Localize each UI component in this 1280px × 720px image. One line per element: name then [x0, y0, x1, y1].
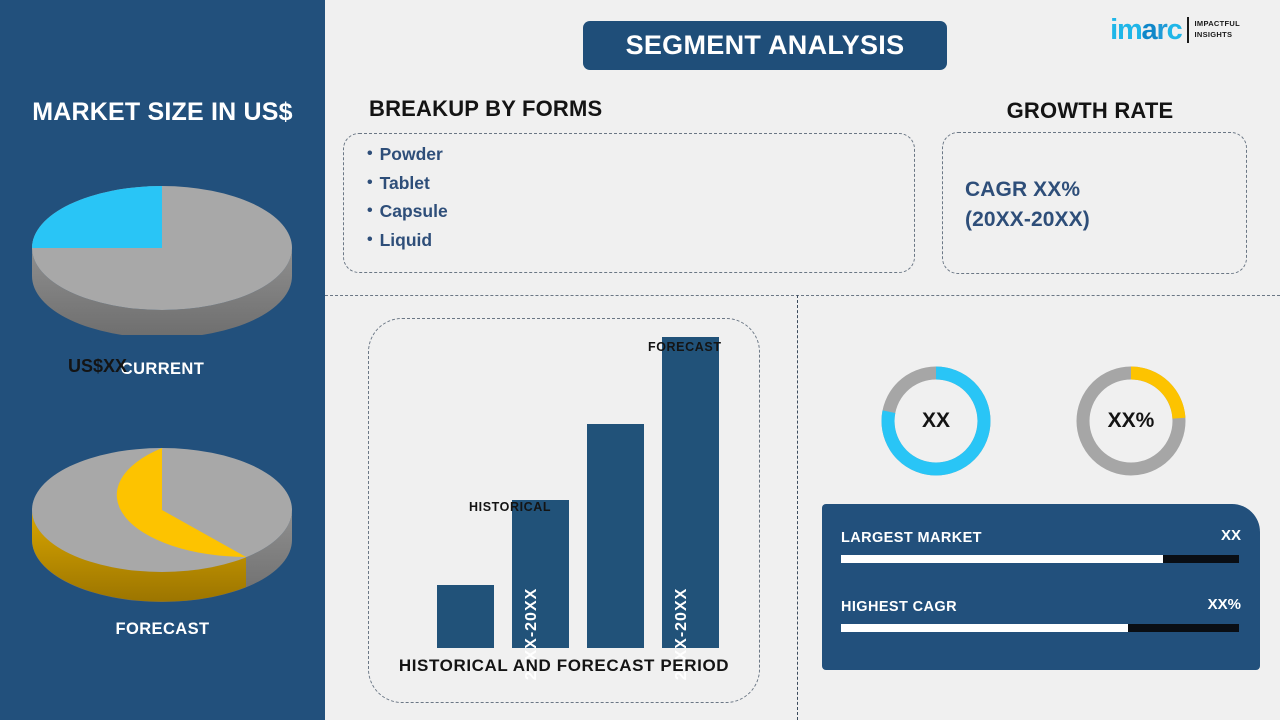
stat-progress-fill [841, 555, 1163, 563]
current-market-size-chart: US$XX CURRENT [0, 160, 325, 335]
forecast-market-size-chart: US$XX FORECAST [0, 432, 325, 607]
stat-progress-fill [841, 624, 1128, 632]
forecast-pie-stage: US$XX [0, 432, 325, 607]
logo-letter-r: r [1156, 14, 1166, 46]
bar-1 [437, 585, 494, 648]
list-item[interactable]: • Capsule [367, 197, 448, 226]
stat-row-largest-market: LARGEST MARKET XX [841, 530, 1241, 563]
logo-divider [1187, 17, 1189, 43]
cagr-value: CAGR XX% [965, 175, 1090, 205]
stat-value: XX [1221, 527, 1241, 544]
logo-tagline-line1: IMPACTFUL [1195, 19, 1240, 30]
stat-label: HIGHEST CAGR [841, 599, 957, 615]
bar-2: 20XX-20XX [512, 500, 569, 648]
stat-row-highest-cagr: HIGHEST CAGR XX% [841, 599, 1241, 632]
list-item-label: Tablet [380, 169, 430, 198]
list-item-label: Powder [380, 140, 443, 169]
cagr-text: CAGR XX% (20XX-20XX) [965, 175, 1090, 235]
imarc-logo[interactable]: imarc IMPACTFUL INSIGHTS [1110, 13, 1240, 47]
logo-tagline-line2: INSIGHTS [1195, 30, 1240, 41]
bar-chart-caption: HISTORICAL AND FORECAST PERIOD [368, 656, 760, 676]
forms-list: • Powder • Tablet • Capsule • Liquid [367, 140, 448, 254]
bullet-icon: • [367, 146, 373, 162]
vertical-divider [797, 295, 798, 720]
list-item-label: Capsule [380, 197, 448, 226]
highest-cagr-donut: XX% [1071, 361, 1191, 481]
list-item[interactable]: • Powder [367, 140, 448, 169]
logo-letter-a: a [1142, 14, 1157, 46]
largest-market-donut-value: XX [876, 361, 996, 481]
stat-progress-track [841, 624, 1239, 632]
sidebar-title: MARKET SIZE IN US$ [0, 98, 325, 127]
current-pie-label: CURRENT [0, 360, 325, 379]
logo-wordmark: imarc [1110, 16, 1181, 45]
logo-letter-i: i [1110, 14, 1117, 46]
bullet-icon: • [367, 203, 373, 219]
stat-head: LARGEST MARKET XX [841, 530, 1241, 551]
stat-head: HIGHEST CAGR XX% [841, 599, 1241, 620]
highest-cagr-donut-value: XX% [1071, 361, 1191, 481]
historical-forecast-bar-chart: 20XX-20XX 20XX-20XX HISTORICAL FORECAST … [368, 318, 760, 703]
market-size-sidebar: MARKET SIZE IN US$ [0, 0, 325, 720]
forecast-annotation: FORECAST [648, 340, 722, 354]
historical-annotation: HISTORICAL [469, 500, 551, 514]
largest-market-donut: XX [876, 361, 996, 481]
stat-label: LARGEST MARKET [841, 530, 982, 546]
logo-letter-m: m [1117, 14, 1142, 46]
current-pie-stage: US$XX [0, 160, 325, 335]
stat-value: XX% [1208, 596, 1241, 613]
current-pie-svg [0, 160, 325, 335]
main-canvas: SEGMENT ANALYSIS imarc IMPACTFUL INSIGHT… [325, 0, 1280, 720]
bar-3 [587, 424, 644, 648]
logo-tagline: IMPACTFUL INSIGHTS [1195, 19, 1240, 41]
list-item-label: Liquid [380, 226, 432, 255]
bullet-icon: • [367, 232, 373, 248]
logo-letter-c: c [1167, 14, 1182, 46]
page-title: SEGMENT ANALYSIS [583, 21, 947, 70]
segment-analysis-infographic: MARKET SIZE IN US$ [0, 0, 1280, 720]
bar-4: 20XX-20XX [662, 337, 719, 648]
stat-progress-track [841, 555, 1239, 563]
list-item[interactable]: • Tablet [367, 169, 448, 198]
list-item[interactable]: • Liquid [367, 226, 448, 255]
stats-panel: LARGEST MARKET XX HIGHEST CAGR XX% [822, 504, 1260, 670]
forecast-pie-svg [0, 432, 325, 607]
forecast-pie-label: FORECAST [0, 620, 325, 639]
bullet-icon: • [367, 175, 373, 191]
forms-heading: BREAKUP BY FORMS [369, 96, 602, 122]
horizontal-divider [325, 295, 1280, 296]
cagr-period: (20XX-20XX) [965, 205, 1090, 235]
growth-rate-heading: GROWTH RATE [925, 98, 1255, 124]
